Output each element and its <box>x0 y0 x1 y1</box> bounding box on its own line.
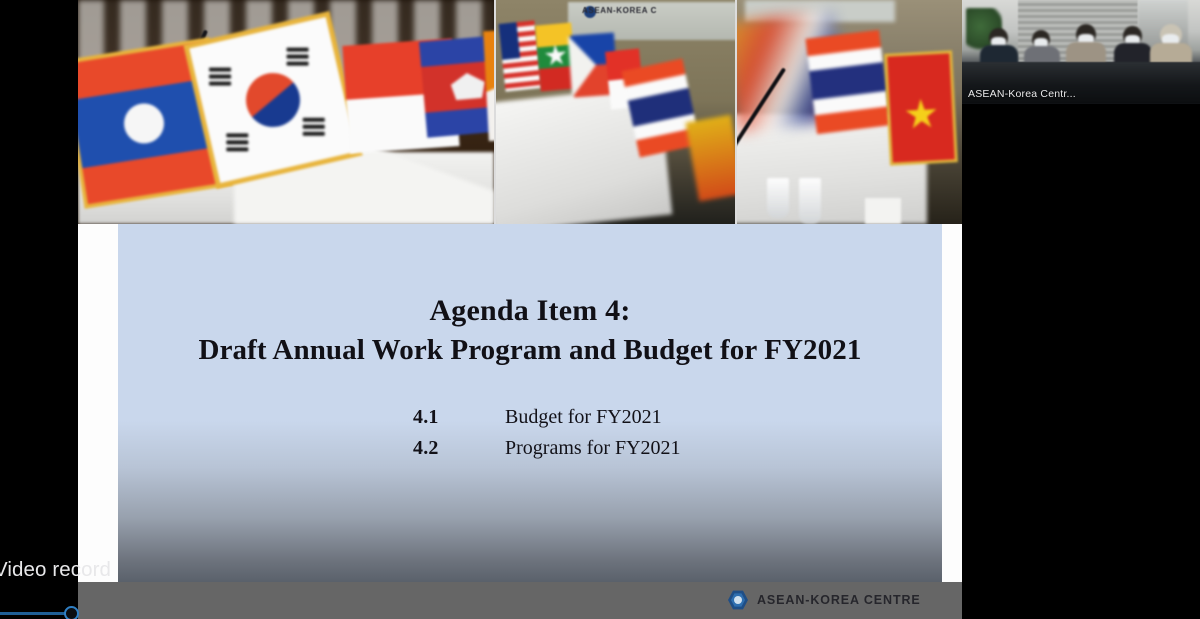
slide-footer-bar: ASEAN-KOREA CENTRE <box>78 582 962 619</box>
playback-seek-handle[interactable] <box>64 606 79 619</box>
slide-body: Agenda Item 4: Draft Annual Work Program… <box>118 224 942 582</box>
meeting-screen: ASEAN-KOREA C <box>0 0 1200 619</box>
cup-icon <box>865 198 901 224</box>
water-glass-icon <box>799 178 821 224</box>
slide-left-margin <box>78 224 118 582</box>
water-glass-icon <box>767 178 789 218</box>
slide-photo-1-asean-flags <box>78 0 494 224</box>
shared-screen-content: ASEAN-KOREA C <box>78 0 962 619</box>
agenda-item-row: 4.1 Budget for FY2021 <box>413 406 853 429</box>
agenda-item-number: 4.1 <box>413 406 505 429</box>
slide-right-margin <box>942 224 962 582</box>
banner-text: ASEAN-KOREA C <box>582 6 735 15</box>
video-record-caption: Video record <box>0 558 111 582</box>
agenda-sub-items: 4.1 Budget for FY2021 4.2 Programs for F… <box>413 406 853 468</box>
flag-cambodia <box>419 34 494 137</box>
slide-photo-band: ASEAN-KOREA C <box>78 0 962 224</box>
slide-subtitle: Draft Annual Work Program and Budget for… <box>118 334 942 367</box>
asean-korea-centre-emblem-icon <box>728 590 748 610</box>
flag-viet-nam <box>884 50 958 165</box>
slide-photo-3-asean-flags <box>735 0 962 224</box>
agenda-item-text: Budget for FY2021 <box>505 406 662 429</box>
participant-video-thumbnail[interactable]: ASEAN-Korea Centr... <box>962 0 1200 104</box>
stage-right-area <box>962 110 1200 619</box>
flag-thailand <box>805 30 890 134</box>
participant-name-label: ASEAN-Korea Centr... <box>968 88 1076 100</box>
taeguk-symbol-icon <box>246 73 300 127</box>
organization-logo-text: ASEAN-KOREA CENTRE <box>757 593 921 607</box>
agenda-item-number: 4.2 <box>413 437 505 460</box>
slide-title: Agenda Item 4: <box>118 294 942 328</box>
agenda-item-row: 4.2 Programs for FY2021 <box>413 437 853 460</box>
stage-left-area <box>0 0 78 619</box>
organization-logo: ASEAN-KOREA CENTRE <box>728 590 921 610</box>
slide-photo-2-asean-flags: ASEAN-KOREA C <box>494 0 735 224</box>
agenda-item-text: Programs for FY2021 <box>505 437 681 460</box>
